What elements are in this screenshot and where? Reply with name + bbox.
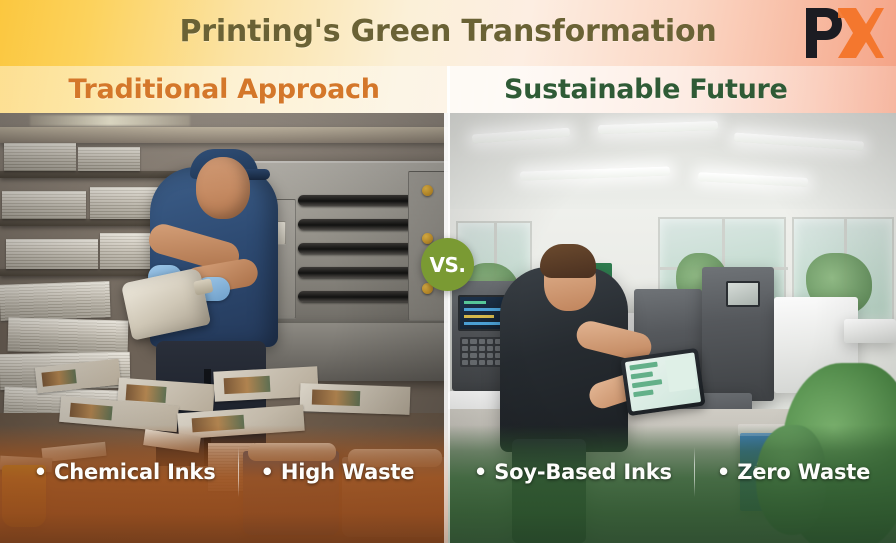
right-bullet-0: • Soy-Based Inks <box>452 460 694 484</box>
right-subtitle: Sustainable Future <box>504 74 788 105</box>
subtitle-divider <box>447 66 450 113</box>
page-title: Printing's Green Transformation <box>0 14 896 49</box>
comparison-panels: • Chemical Inks • High Waste <box>0 113 896 543</box>
right-bullet-list: • Soy-Based Inks • Zero Waste <box>452 447 892 497</box>
right-subtitle-block: Sustainable Future <box>448 66 896 113</box>
left-bullet-1: • High Waste <box>239 460 437 484</box>
left-bullet-0: • Chemical Inks <box>12 460 238 484</box>
left-panel-traditional: • Chemical Inks • High Waste <box>0 113 448 543</box>
right-bullet-1: • Zero Waste <box>695 460 892 484</box>
header-banner: Printing's Green Transformation Traditio… <box>0 0 896 113</box>
left-subtitle: Traditional Approach <box>68 74 379 105</box>
right-panel-sustainable: ♻ ♻ ♻ • Soy-Based Inks • Zero Waste <box>448 113 896 543</box>
vs-badge: VS. <box>421 238 474 291</box>
panel-divider <box>444 113 450 543</box>
vs-label: VS. <box>430 253 466 277</box>
left-bullet-list: • Chemical Inks • High Waste <box>12 447 437 497</box>
right-label-bar: • Soy-Based Inks • Zero Waste <box>448 425 896 543</box>
left-subtitle-block: Traditional Approach <box>0 66 448 113</box>
px-logo-icon[interactable] <box>798 4 884 62</box>
left-label-bar: • Chemical Inks • High Waste <box>0 425 448 543</box>
infographic-root: Printing's Green Transformation Traditio… <box>0 0 896 543</box>
